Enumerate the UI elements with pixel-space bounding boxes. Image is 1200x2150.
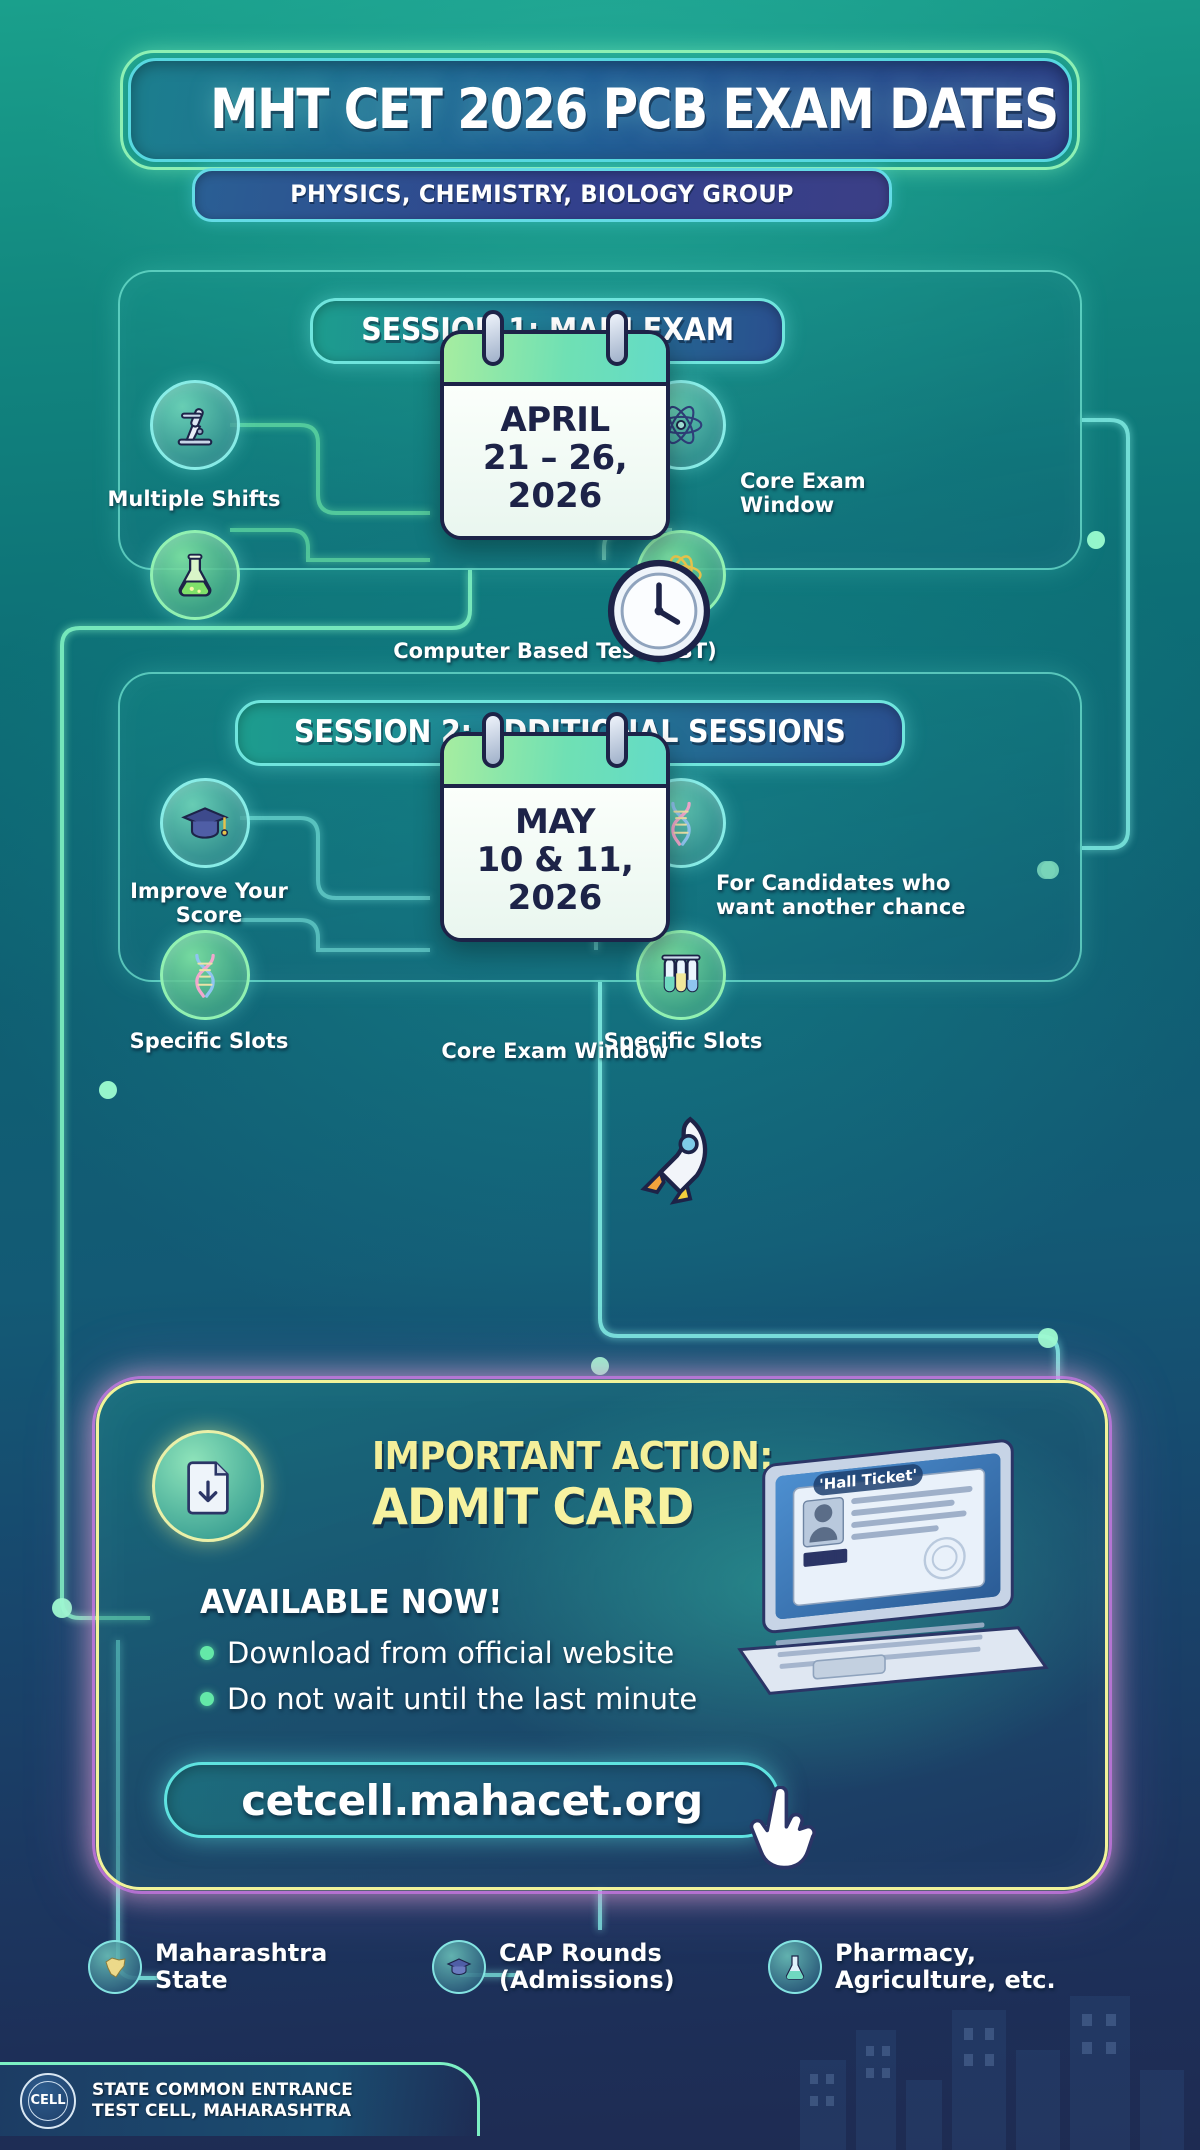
bottom-tag-line2: State bbox=[155, 1966, 228, 1994]
document-download-icon bbox=[152, 1430, 264, 1542]
bullet-dot-icon bbox=[200, 1692, 214, 1706]
list-item: Download from official website bbox=[200, 1636, 697, 1670]
admit-heading-line1: IMPORTANT ACTION: bbox=[372, 1434, 773, 1478]
laptop-illustration: 'Hall Ticket' bbox=[718, 1432, 1056, 1732]
map-maharashtra-icon bbox=[88, 1940, 142, 1994]
title-outer-frame: MHT CET 2026 PCB EXAM DATES bbox=[120, 50, 1080, 170]
session-1-right-label-1: Core Exam Window bbox=[740, 470, 970, 518]
test-tubes-glyph bbox=[655, 949, 707, 1001]
pharmacy-flask-glyph bbox=[779, 1951, 811, 1983]
poster-title-block: MHT CET 2026 PCB EXAM DATES bbox=[120, 50, 1080, 170]
bottom-tag-maharashtra: Maharashtra State bbox=[88, 1940, 327, 1994]
bottom-tag-cap-rounds: CAP Rounds (Admissions) bbox=[432, 1940, 675, 1994]
admit-bullet-2: Do not wait until the last minute bbox=[227, 1682, 697, 1716]
admit-heading-line2: ADMIT CARD bbox=[372, 1478, 693, 1536]
test-tubes-icon bbox=[636, 930, 726, 1020]
session-2-right-label-1: For Candidates who want another chance bbox=[716, 872, 986, 920]
graduation-cap-glyph bbox=[179, 797, 231, 849]
subtitle-text: PHYSICS, CHEMISTRY, BIOLOGY GROUP bbox=[235, 180, 850, 208]
cet-cell-seal-icon: CELL bbox=[20, 2073, 76, 2129]
cap-rounds-icon bbox=[432, 1940, 486, 1994]
bottom-tag-line1: CAP Rounds bbox=[499, 1939, 662, 1967]
graduation-cap-icon bbox=[160, 778, 250, 868]
list-item: Do not wait until the last minute bbox=[200, 1682, 697, 1716]
cap-rounds-glyph bbox=[443, 1951, 475, 1983]
bottom-tag-label: Maharashtra State bbox=[155, 1940, 327, 1994]
calendar-month: APRIL bbox=[452, 402, 658, 439]
calendar-days-2: 10 & 11, bbox=[452, 841, 658, 880]
infographic-poster: MHT CET 2026 PCB EXAM DATES PHYSICS, CHE… bbox=[0, 0, 1200, 2150]
map-maharashtra-glyph bbox=[99, 1951, 131, 1983]
session-2-left-label-2: Specific Slots bbox=[104, 1030, 314, 1054]
session-1-left-label-1: Multiple Shifts bbox=[94, 488, 294, 512]
bottom-tag-line2: (Admissions) bbox=[499, 1966, 675, 1994]
microscope-glyph bbox=[169, 399, 221, 451]
official-website-url: cetcell.mahacet.org bbox=[241, 1776, 702, 1825]
pharmacy-flask-icon bbox=[768, 1940, 822, 1994]
calendar-header-band-2 bbox=[444, 736, 666, 788]
page-title: MHT CET 2026 PCB EXAM DATES bbox=[210, 77, 990, 141]
title-inner-frame: MHT CET 2026 PCB EXAM DATES bbox=[128, 58, 1072, 162]
bottom-tag-line2: Agriculture, etc. bbox=[835, 1966, 1056, 1994]
flask-glyph bbox=[169, 549, 221, 601]
hand-cursor-icon bbox=[744, 1786, 824, 1882]
calendar-ring-right-2 bbox=[606, 712, 628, 768]
bottom-tag-line1: Maharashtra bbox=[155, 1939, 327, 1967]
rocket-icon bbox=[624, 1106, 730, 1212]
official-website-url-button[interactable]: cetcell.mahacet.org bbox=[164, 1762, 780, 1838]
session-2-left-label-1: Improve Your Score bbox=[104, 880, 314, 928]
microscope-icon bbox=[150, 380, 240, 470]
subtitle-bar: PHYSICS, CHEMISTRY, BIOLOGY GROUP bbox=[192, 168, 892, 222]
calendar-body-2: MAY 10 & 11, 2026 bbox=[444, 788, 666, 938]
calendar-year: 2026 bbox=[452, 478, 658, 515]
bottom-tag-pharmacy: Pharmacy, Agriculture, etc. bbox=[768, 1940, 1056, 1994]
document-download-glyph bbox=[177, 1455, 239, 1517]
calendar-body: APRIL 21 – 26, 2026 bbox=[444, 386, 666, 536]
footer-bar: CELL STATE COMMON ENTRANCE TEST CELL, MA… bbox=[0, 2062, 480, 2136]
bottom-tag-line1: Pharmacy, bbox=[835, 1939, 976, 1967]
admit-bullet-list: Download from official website Do not wa… bbox=[200, 1636, 697, 1728]
bottom-tag-label: CAP Rounds (Admissions) bbox=[499, 1940, 675, 1994]
seal-inner-text: CELL bbox=[28, 2081, 68, 2121]
flask-icon bbox=[150, 530, 240, 620]
clock-icon bbox=[600, 552, 718, 670]
footer-line2: TEST CELL, MAHARASHTRA bbox=[92, 2101, 351, 2121]
admit-bullet-1: Download from official website bbox=[227, 1636, 674, 1670]
calendar-days: 21 – 26, bbox=[452, 439, 658, 478]
calendar-month-2: MAY bbox=[452, 804, 658, 841]
session-2-calendar: MAY 10 & 11, 2026 bbox=[440, 732, 670, 942]
dna-icon bbox=[160, 930, 250, 1020]
footer-line1: STATE COMMON ENTRANCE bbox=[92, 2080, 353, 2100]
admit-available-text: AVAILABLE NOW! bbox=[200, 1582, 502, 1621]
bottom-tag-label: Pharmacy, Agriculture, etc. bbox=[835, 1940, 1056, 1994]
session-1-calendar: APRIL 21 – 26, 2026 bbox=[440, 330, 670, 540]
calendar-ring-right bbox=[606, 310, 628, 366]
calendar-ring-left-2 bbox=[482, 712, 504, 768]
calendar-year-2: 2026 bbox=[452, 880, 658, 917]
session-2-bottom-label: Core Exam Window bbox=[350, 1040, 760, 1064]
calendar-header-band bbox=[444, 334, 666, 386]
dna-glyph bbox=[179, 949, 231, 1001]
calendar-ring-left bbox=[482, 310, 504, 366]
footer-organization-name: STATE COMMON ENTRANCE TEST CELL, MAHARAS… bbox=[92, 2080, 353, 2121]
bullet-dot-icon bbox=[200, 1646, 214, 1660]
